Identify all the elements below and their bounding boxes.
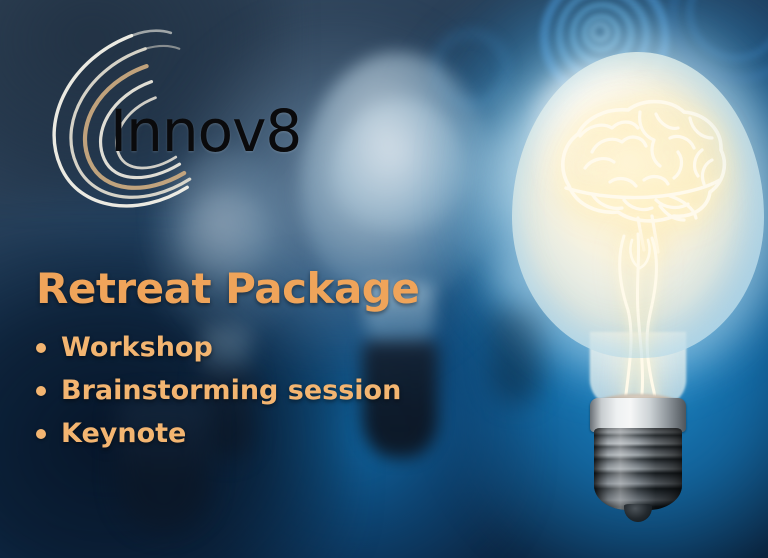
- bullet-dot-icon: [36, 429, 46, 439]
- hero-lightbulb: [498, 46, 768, 516]
- list-item: Brainstorming session: [36, 369, 401, 412]
- feature-bullet-list: Workshop Brainstorming session Keynote: [36, 326, 401, 455]
- bulb-screw-threads-shading: [594, 428, 682, 510]
- list-item-label: Keynote: [61, 420, 186, 447]
- list-item: Keynote: [36, 412, 401, 455]
- brand-logo-text: Innov8: [110, 102, 301, 160]
- bulb-cap-collar: [590, 398, 686, 432]
- page-title: Retreat Package: [36, 268, 419, 310]
- list-item: Workshop: [36, 326, 401, 369]
- bullet-dot-icon: [36, 343, 46, 353]
- slide-canvas: Innov8 Retreat Package Workshop Brainsto…: [0, 0, 768, 558]
- bullet-dot-icon: [36, 386, 46, 396]
- list-item-label: Workshop: [61, 334, 213, 361]
- list-item-label: Brainstorming session: [61, 377, 401, 404]
